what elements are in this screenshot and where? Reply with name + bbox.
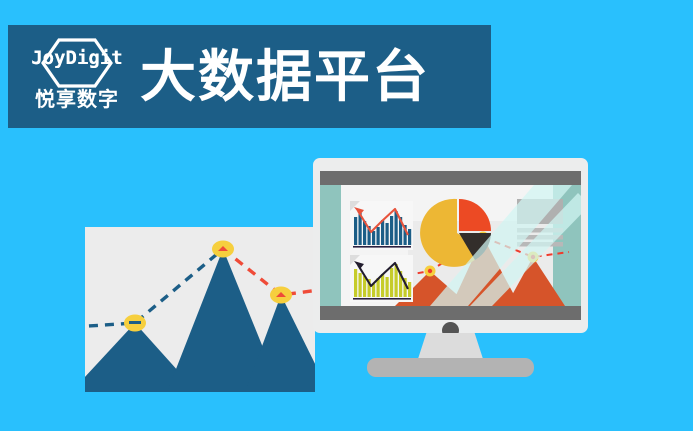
blue-mountain-svg <box>85 227 315 392</box>
monitor-top-bezel <box>320 171 581 185</box>
orange-marker <box>425 266 436 277</box>
monitor-bottom-bezel <box>320 306 581 320</box>
poster-canvas: JoyDigit 悦享数字 大数据平台 <box>0 0 693 431</box>
monitor-screen <box>320 185 581 306</box>
blue-bar-card <box>350 201 413 250</box>
logo-wordmark: JoyDigit <box>22 49 132 68</box>
header-band: JoyDigit 悦享数字 大数据平台 <box>8 25 491 128</box>
marker-notch <box>129 321 141 324</box>
desktop-monitor <box>313 158 588 333</box>
logo-chinese-name: 悦享数字 <box>22 89 132 111</box>
blue-mountain-chart <box>85 227 315 392</box>
brand-logo: JoyDigit 悦享数字 <box>22 35 132 121</box>
dashboard-graphics <box>320 185 581 306</box>
yellow-bar-card <box>350 255 413 302</box>
page-title: 大数据平台 <box>140 39 430 115</box>
monitor-stand-base <box>367 358 534 377</box>
